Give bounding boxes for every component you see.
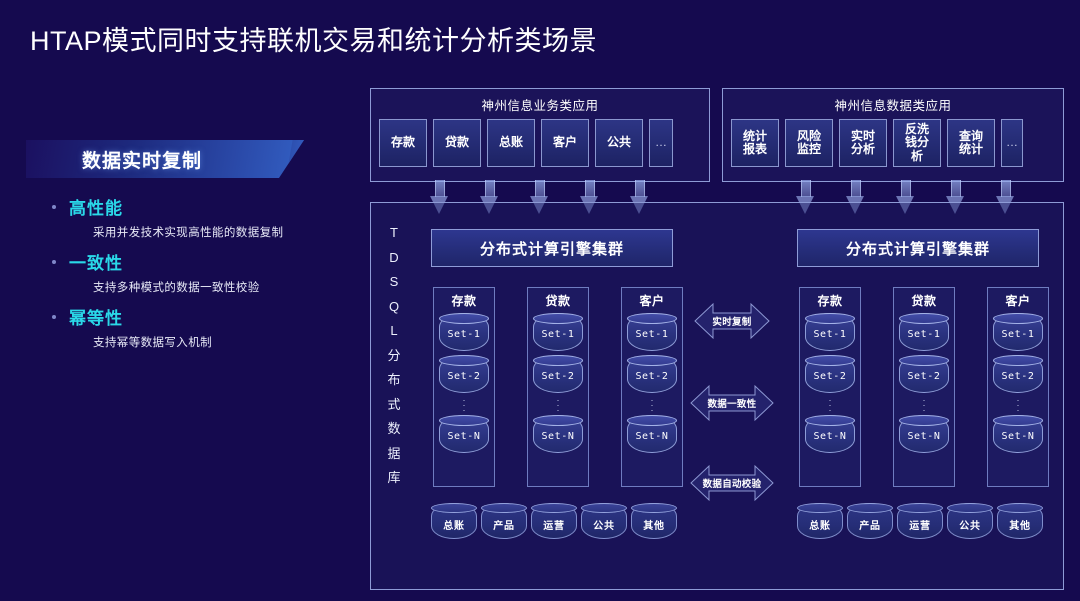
set-label: Set-N <box>806 431 854 442</box>
vertical-label-char: D <box>381 246 407 271</box>
database-cylinder-label: 公共 <box>948 517 992 532</box>
architecture-diagram: 神州信息业务类应用 存款贷款总账客户公共… 神州信息数据类应用 统计报表风险监控… <box>370 88 1064 590</box>
app-group-title: 神州信息数据类应用 <box>723 89 1063 114</box>
vertical-label-char: 布 <box>381 368 407 393</box>
vertical-label-char: 分 <box>381 344 407 369</box>
set-column-title: 客户 <box>622 292 682 309</box>
database-cylinder-label: 运营 <box>898 517 942 532</box>
app-chip-more[interactable]: … <box>649 119 673 167</box>
database-cylinder-label: 其他 <box>998 517 1042 532</box>
set-cylinder: Set-1 <box>533 313 583 351</box>
set-column-title: 客户 <box>988 292 1048 309</box>
vertical-label-char: S <box>381 270 407 295</box>
app-chip[interactable]: 风险监控 <box>785 119 833 167</box>
list-item: 一致性 支持多种模式的数据一致性校验 <box>26 249 356 295</box>
link-arrow-label: 数据自动校验 <box>689 476 775 490</box>
app-chip[interactable]: 总账 <box>487 119 535 167</box>
bullet-description: 采用并发技术实现高性能的数据复制 <box>93 224 356 240</box>
set-label: Set-1 <box>628 329 676 340</box>
bullet-title: 一致性 <box>69 249 123 274</box>
set-cylinder: Set-2 <box>993 355 1043 393</box>
set-cylinder: Set-N <box>899 415 949 453</box>
set-label: Set-1 <box>534 329 582 340</box>
set-column: 客户 Set-1 Set-2 ... Set-N <box>621 287 683 487</box>
database-cylinder[interactable]: 其他 <box>997 503 1043 539</box>
set-label: Set-N <box>440 431 488 442</box>
database-cylinder-label: 产品 <box>482 517 526 532</box>
ellipsis-dots-icon: ... <box>988 396 1048 411</box>
ellipsis-dots-icon: ... <box>528 396 588 411</box>
link-arrow-label: 数据一致性 <box>689 396 775 410</box>
page-title: HTAP模式同时支持联机交易和统计分析类场景 <box>30 19 597 58</box>
database-cylinder-label: 总账 <box>798 517 842 532</box>
set-cylinder: Set-1 <box>899 313 949 351</box>
set-label: Set-1 <box>900 329 948 340</box>
database-cylinder[interactable]: 运营 <box>531 503 577 539</box>
compute-engine-cluster-left: 分布式计算引擎集群 <box>431 229 673 267</box>
list-item: 幂等性 支持幂等数据写入机制 <box>26 304 356 350</box>
set-cylinder: Set-1 <box>439 313 489 351</box>
list-item: 高性能 采用并发技术实现高性能的数据复制 <box>26 194 356 240</box>
set-cylinder: Set-2 <box>533 355 583 393</box>
database-cylinder-label: 产品 <box>848 517 892 532</box>
set-cylinder: Set-2 <box>439 355 489 393</box>
app-group-business: 神州信息业务类应用 存款贷款总账客户公共… <box>370 88 710 182</box>
ellipsis-dots-icon: ... <box>434 396 494 411</box>
set-column-title: 贷款 <box>528 292 588 309</box>
set-cylinder: Set-2 <box>805 355 855 393</box>
app-chip[interactable]: 客户 <box>541 119 589 167</box>
set-column: 存款 Set-1 Set-2 ... Set-N <box>799 287 861 487</box>
database-cylinder-label: 公共 <box>582 517 626 532</box>
app-chip[interactable]: 实时分析 <box>839 119 887 167</box>
vertical-label-char: 库 <box>381 466 407 491</box>
app-chip[interactable]: 公共 <box>595 119 643 167</box>
ellipsis-dots-icon: ... <box>622 396 682 411</box>
ellipsis-dots-icon: ... <box>800 396 860 411</box>
app-chip-more[interactable]: … <box>1001 119 1023 167</box>
set-column: 客户 Set-1 Set-2 ... Set-N <box>987 287 1049 487</box>
database-cylinder[interactable]: 总账 <box>431 503 477 539</box>
ellipsis-dots-icon: ... <box>894 396 954 411</box>
set-cylinder: Set-N <box>627 415 677 453</box>
ribbon-title: 数据实时复制 <box>82 146 202 173</box>
section-ribbon: 数据实时复制 <box>26 140 304 178</box>
app-chip[interactable]: 存款 <box>379 119 427 167</box>
app-chip[interactable]: 反洗钱分析 <box>893 119 941 167</box>
set-label: Set-N <box>628 431 676 442</box>
set-cylinder: Set-N <box>805 415 855 453</box>
set-cylinder: Set-1 <box>993 313 1043 351</box>
set-cylinder: Set-2 <box>627 355 677 393</box>
set-label: Set-2 <box>994 371 1042 382</box>
bullet-title: 高性能 <box>69 194 123 219</box>
bullet-description: 支持多种模式的数据一致性校验 <box>93 279 356 295</box>
set-column-title: 贷款 <box>894 292 954 309</box>
set-column: 贷款 Set-1 Set-2 ... Set-N <box>527 287 589 487</box>
database-cylinder[interactable]: 总账 <box>797 503 843 539</box>
bullet-title: 幂等性 <box>69 304 123 329</box>
set-cylinder: Set-1 <box>627 313 677 351</box>
set-label: Set-1 <box>994 329 1042 340</box>
app-group-data: 神州信息数据类应用 统计报表风险监控实时分析反洗钱分析查询统计… <box>722 88 1064 182</box>
app-group-title: 神州信息业务类应用 <box>371 89 709 114</box>
set-label: Set-2 <box>900 371 948 382</box>
app-chip[interactable]: 查询统计 <box>947 119 995 167</box>
set-column-title: 存款 <box>434 292 494 309</box>
set-cylinder: Set-N <box>533 415 583 453</box>
bullet-dot-icon <box>52 260 56 264</box>
vertical-label-char: Q <box>381 295 407 320</box>
vertical-label-char: 数 <box>381 417 407 442</box>
database-cylinder[interactable]: 公共 <box>947 503 993 539</box>
database-cylinder-label: 其他 <box>632 517 676 532</box>
bullet-list: 高性能 采用并发技术实现高性能的数据复制 一致性 支持多种模式的数据一致性校验 … <box>26 194 356 350</box>
set-cylinder: Set-2 <box>899 355 949 393</box>
left-info-panel: 数据实时复制 高性能 采用并发技术实现高性能的数据复制 一致性 支持多种模式的数… <box>26 140 356 359</box>
set-cylinder: Set-N <box>439 415 489 453</box>
vertical-label-char: L <box>381 319 407 344</box>
database-cylinder[interactable]: 其他 <box>631 503 677 539</box>
link-arrow-data-consistency: 数据一致性 <box>689 381 775 425</box>
set-column: 贷款 Set-1 Set-2 ... Set-N <box>893 287 955 487</box>
database-cylinder[interactable]: 公共 <box>581 503 627 539</box>
tdsql-main-panel: TDSQL分布式数据库 分布式计算引擎集群 存款 Set-1 Set-2 ...… <box>370 202 1064 590</box>
set-label: Set-2 <box>440 371 488 382</box>
tdsql-vertical-label: TDSQL分布式数据库 <box>381 221 407 491</box>
set-label: Set-1 <box>440 329 488 340</box>
database-cylinder[interactable]: 产品 <box>481 503 527 539</box>
database-cylinder[interactable]: 产品 <box>847 503 893 539</box>
vertical-label-char: 据 <box>381 442 407 467</box>
bullet-dot-icon <box>52 205 56 209</box>
set-cylinder: Set-1 <box>805 313 855 351</box>
set-label: Set-N <box>900 431 948 442</box>
set-label: Set-N <box>534 431 582 442</box>
vertical-label-char: T <box>381 221 407 246</box>
set-column: 存款 Set-1 Set-2 ... Set-N <box>433 287 495 487</box>
set-label: Set-2 <box>806 371 854 382</box>
compute-engine-cluster-right: 分布式计算引擎集群 <box>797 229 1039 267</box>
vertical-label-char: 式 <box>381 393 407 418</box>
link-arrow-realtime-replication: 实时复制 <box>693 299 771 343</box>
set-label: Set-2 <box>628 371 676 382</box>
bullet-description: 支持幂等数据写入机制 <box>93 334 356 350</box>
set-label: Set-2 <box>534 371 582 382</box>
database-cylinder-label: 运营 <box>532 517 576 532</box>
set-label: Set-N <box>994 431 1042 442</box>
set-label: Set-1 <box>806 329 854 340</box>
bullet-dot-icon <box>52 315 56 319</box>
app-chip[interactable]: 贷款 <box>433 119 481 167</box>
link-arrow-auto-verification: 数据自动校验 <box>689 461 775 505</box>
set-column-title: 存款 <box>800 292 860 309</box>
database-cylinder[interactable]: 运营 <box>897 503 943 539</box>
set-cylinder: Set-N <box>993 415 1043 453</box>
app-chip[interactable]: 统计报表 <box>731 119 779 167</box>
database-cylinder-label: 总账 <box>432 517 476 532</box>
link-arrow-label: 实时复制 <box>693 314 771 328</box>
